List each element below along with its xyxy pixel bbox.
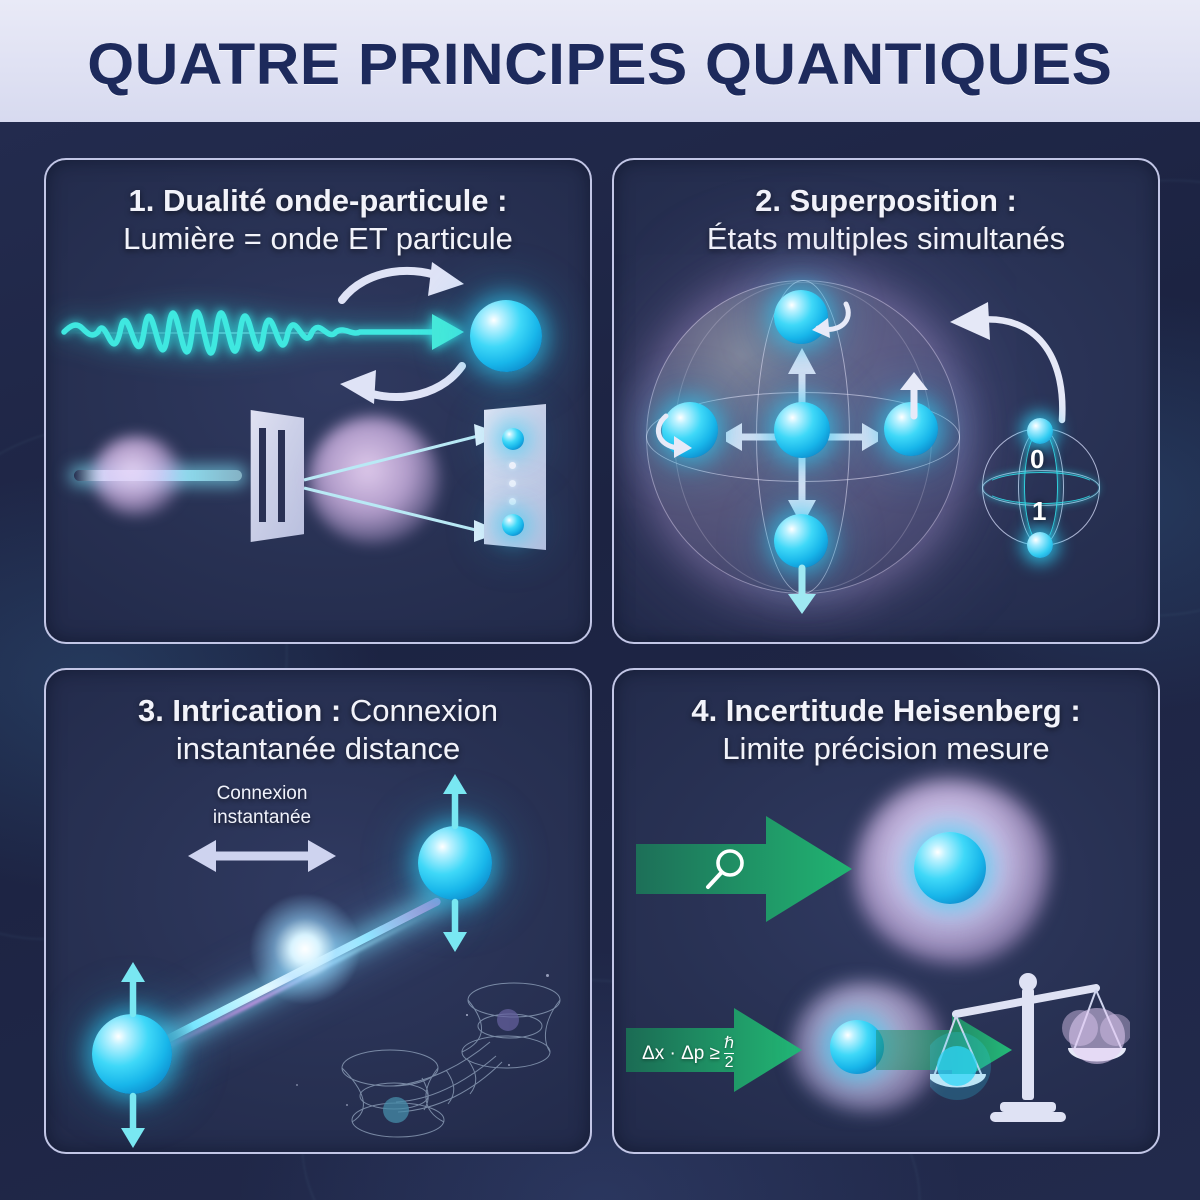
entangled-particle-b [418,826,492,900]
panel-4-title: 4. Incertitude Heisenberg : Limite préci… [614,692,1158,768]
annotation-line-1: Connexion [217,783,308,804]
panel-2-title-regular: États multiples simultanés [707,221,1065,256]
spin-arrow-a-up [118,960,148,1018]
panel-2-title-bold: 2. Superposition : [755,183,1017,218]
formula-numerator: ℏ [724,1036,734,1054]
panel-1-title-regular: Lumière = onde ET particule [123,221,513,256]
slit-right [278,430,285,522]
panel-heisenberg-uncertainty[interactable]: 4. Incertitude Heisenberg : Limite préci… [612,668,1160,1154]
bloch-node-zero [1027,418,1053,444]
diffraction-rays [302,414,512,549]
spin-up-arrow [894,372,934,420]
panel-3-figure: Connexion instantanée [46,774,590,1152]
panel-4-figure: Δx · Δp ≥ ℏ 2 [614,774,1158,1152]
spin-down-arrow [782,564,822,616]
balance-scale [930,970,1130,1130]
formula-left: Δx · Δp ≥ [642,1043,720,1065]
spin-curl-top [806,294,866,344]
panel-2-figure: 0 1 [614,264,1158,642]
satellite-particle-bottom [774,514,828,568]
detector-dot-faint [509,462,516,469]
spin-arrow-a-down [118,1092,148,1152]
formula-fraction: ℏ 2 [724,1036,734,1071]
spin-arrow-b-up [440,772,470,830]
curved-arrow [944,298,1074,428]
header-banner: QUATRE PRINCIPES QUANTIQUES [0,0,1200,128]
magnifier-icon [702,844,752,894]
detector-dot-bottom [502,514,524,536]
panel-3-title: 3. Intrication : Connexion instantanée d… [46,692,590,768]
panel-1-figure [46,264,590,642]
star [296,1084,298,1086]
detector-dot-faint [509,480,516,487]
center-particle [774,402,830,458]
bloch-label-0: 0 [1030,444,1044,475]
uncertainty-formula: Δx · Δp ≥ ℏ 2 [642,1036,734,1071]
bloch-label-1: 1 [1032,496,1046,527]
entangled-particle-a [92,1014,172,1094]
wormhole-wireframe [338,960,568,1150]
double-slit-plate [242,410,304,542]
panel-2-title: 2. Superposition : États multiples simul… [614,182,1158,258]
panel-3-title-bold: 3. Intrication : [138,693,341,728]
scale-base-top [1000,1102,1056,1112]
spin-curl-left [652,410,712,460]
entanglement-annotation: Connexion instantanée [162,782,362,830]
panel-wave-particle-duality[interactable]: 1. Dualité onde-particule : Lumière = on… [44,158,592,644]
panel-4-title-bold: 4. Incertitude Heisenberg : [691,693,1080,728]
annotation-line-2: instantanée [213,807,311,828]
particle-sphere [470,300,542,372]
source-cloud [92,436,182,516]
mini-bloch-sphere: 0 1 [970,414,1110,572]
panel-superposition[interactable]: 2. Superposition : États multiples simul… [612,158,1160,644]
exchange-arrow-bottom [334,356,474,408]
bloch-node-one [1027,532,1053,558]
scale-base [990,1112,1066,1122]
detector-dot-faint [509,498,516,505]
exchange-arrow-top [336,260,476,310]
double-headed-arrow [182,836,342,876]
page-title: QUATRE PRINCIPES QUANTIQUES [87,31,1112,98]
panel-4-title-regular: Limite précision mesure [722,731,1049,766]
infographic-root: QUATRE PRINCIPES QUANTIQUES 1. Dualité o… [0,0,1200,1200]
detector-dot-top [502,428,524,450]
formula-denominator: 2 [725,1054,734,1071]
spin-arrow-b-down [440,898,470,956]
panel-1-title-bold: 1. Dualité onde-particule : [129,183,508,218]
slit-left [259,428,266,522]
panel-entanglement[interactable]: 3. Intrication : Connexion instantanée d… [44,668,592,1154]
measured-particle [914,832,986,904]
panel-1-title: 1. Dualité onde-particule : Lumière = on… [46,182,590,258]
